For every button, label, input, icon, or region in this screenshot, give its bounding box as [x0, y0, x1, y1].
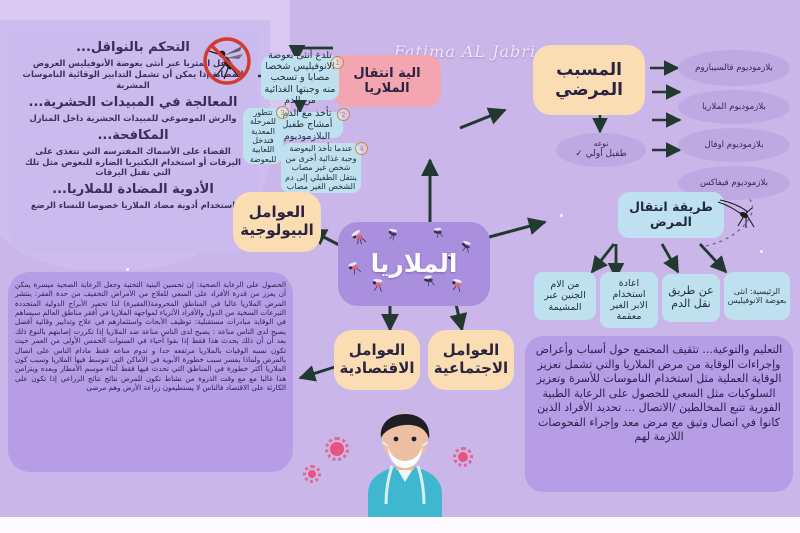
transmission-route-1[interactable]: اعادة استخدام الابر الغير معقمة [600, 272, 658, 328]
node-economic-factors-label: العوامل الاقتصادية [334, 342, 420, 377]
education-awareness-text: التعليم والتوعية... تثقيف المجتمع حول أس… [534, 343, 784, 445]
node-pathogen[interactable]: المسبب المرضي [533, 45, 645, 115]
prevention-section-title-2: المكافحة... [18, 128, 248, 144]
node-transmission-method-label: طريقة انتقال المرض [618, 200, 724, 230]
mechanism-step-1-number: 1 [331, 56, 344, 69]
economic-factors-text: الحصول على الرعاية الصحية: إن تحسين البن… [15, 280, 286, 392]
node-biological-factors-label: العوامل البيولوجية [233, 204, 321, 239]
node-social-factors-label: العوامل الاجتماعية [428, 342, 514, 377]
transmission-route-0-label: من الام الجنين عبر المشيمة [537, 279, 593, 313]
transmission-route-2-label: عن طريق نقل الدم [665, 285, 717, 311]
mechanism-step-1-label: تلدغ أنثى بعوضة الانوفيليس شخصا مصابا و … [264, 50, 336, 106]
virus-icon [330, 442, 344, 456]
transmission-route-3[interactable]: الرئيسية: انثى بعوضة الانوفيليس [724, 272, 790, 320]
mechanism-step-2-number: 2 [337, 108, 350, 121]
node-malaria-center[interactable]: الملاريا [338, 222, 490, 306]
prevention-section-text-3: استخدام أدوية مضاد الملاريا خصوصا للنساء… [18, 200, 248, 211]
transmission-route-0[interactable]: من الام الجنين عبر المشيمة [534, 272, 596, 320]
pathogen-species-0-label: بلازموديوم فالسيباروم [695, 63, 773, 73]
education-awareness-panel: التعليم والتوعية... تثقيف المجتمع حول أس… [525, 336, 793, 492]
economic-factors-panel: الحصول على الرعاية الصحية: إن تحسين البن… [8, 272, 293, 472]
prevention-section-title-1: المعالجة في المبيدات الحشرية... [18, 95, 248, 111]
prevention-section-text-2: القضاء على الأسماك المفترسه التي تتغذى ع… [18, 146, 248, 178]
node-malaria-mechanism-label: الية انتقال الملاريا [333, 66, 441, 97]
mechanism-step-4-number: 4 [355, 142, 368, 155]
pathogen-species-3-label: بلازموديوم فيفاكس [700, 178, 768, 188]
transmission-route-2[interactable]: عن طريق نقل الدم [662, 274, 720, 322]
sparkle-speck [760, 250, 763, 253]
pathogen-species-0[interactable]: بلازموديوم فالسيباروم [678, 50, 790, 86]
pathogen-type-bubble[interactable]: نوعه طفيل أولي ✓ [556, 133, 646, 167]
virus-icon [458, 452, 468, 462]
mechanism-step-1[interactable]: تلدغ أنثى بعوضة الانوفيليس شخصا مصابا و … [261, 56, 339, 100]
mosquito-icon [714, 196, 758, 230]
no-mosquito-icon [202, 36, 252, 86]
pathogen-species-2-label: بلازموديوم اوفال [705, 140, 764, 150]
malaria-mindmap-poster: التحكم بالنواقل... تنقل المثريا عبر أنثى… [0, 0, 800, 533]
transmission-route-3-label: الرئيسية: انثى بعوضة الانوفيليس [727, 287, 787, 306]
sparkle-speck [126, 268, 129, 271]
prevention-section-text-1: والرش الموضوعي للمبيدات الحشرية داخل الم… [18, 113, 248, 124]
pathogen-species-2[interactable]: بلازموديوم اوفال [678, 128, 790, 162]
pathogen-species-1[interactable]: بلازموديوم الملاريا [678, 90, 790, 124]
transmission-route-1-label: اعادة استخدام الابر الغير معقمة [603, 278, 655, 323]
prevention-section-title-3: الأدوية المضادة للملاريا... [18, 182, 248, 198]
pathogen-type-value: طفيل أولي ✓ [575, 149, 627, 160]
sparkle-speck [560, 214, 563, 217]
node-transmission-method[interactable]: طريقة انتقال المرض [618, 192, 724, 238]
virus-icon [308, 470, 316, 478]
node-economic-factors[interactable]: العوامل الاقتصادية [334, 330, 420, 390]
node-malaria-center-label: الملاريا [371, 249, 458, 279]
mechanism-step-3-label: تتطور للمرحلة المعدية فتدخل اللعابية للب… [246, 108, 280, 165]
pathogen-type-label: نوعه [594, 140, 609, 149]
node-malaria-mechanism[interactable]: الية انتقال الملاريا [333, 55, 441, 107]
node-social-factors[interactable]: العوامل الاجتماعية [428, 330, 514, 390]
mechanism-step-4-label: عندما تأخذ البعوضة وجبة غذائية أخرى من ش… [284, 144, 358, 191]
mechanism-step-3-number: 3 [276, 106, 289, 119]
mechanism-step-4[interactable]: عندما تأخذ البعوضة وجبة غذائية أخرى من ش… [281, 143, 361, 193]
bottom-border-strip [0, 517, 800, 533]
node-pathogen-label: المسبب المرضي [533, 60, 645, 100]
node-biological-factors[interactable]: العوامل البيولوجية [233, 192, 321, 252]
person-wearing-mask-illustration [352, 408, 458, 520]
pathogen-species-1-label: بلازموديوم الملاريا [702, 102, 766, 112]
